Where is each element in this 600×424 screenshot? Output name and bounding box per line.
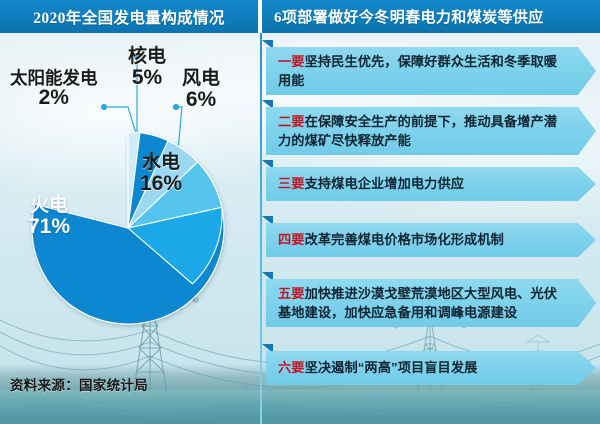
measure-body-1: 坚持民生优先，保障好群众生活和冬季取暖用能	[278, 54, 557, 88]
right-header-bar: 6项部署做好今冬明春电力和煤炭等供应	[262, 0, 600, 33]
measure-key-3: 三要	[278, 176, 305, 191]
measure-key-1: 一要	[278, 54, 305, 69]
measure-text-1: 一要坚持民生优先，保障好群众生活和冬季取暖用能	[266, 52, 596, 90]
right-panel-title: 6项部署做好今冬明春电力和煤炭等供应	[274, 6, 544, 27]
leader-dots	[101, 54, 179, 110]
source-label: 资料来源：国家统计局	[10, 374, 148, 394]
pie-chart-svg	[0, 33, 258, 333]
measure-text-3: 三要支持煤电企业增加电力供应	[266, 176, 490, 192]
measure-banner-4[interactable]: 四要改革完善煤电价格市场化形成机制	[266, 223, 596, 257]
infographic-root: 2020年全国发电量构成情况 6项部署做好今冬明春电力和煤炭等供应	[0, 0, 600, 424]
measure-text-5: 五要加快推进沙漠戈壁荒漠地区大型风电、光伏基地建设，加快应急备用和调峰电源建设	[266, 284, 596, 322]
measure-body-5: 加快推进沙漠戈壁荒漠地区大型风电、光伏基地建设，加快应急备用和调峰电源建设	[278, 286, 557, 320]
measure-body-2: 在保障安全生产的前提下，推动具备增产潜力的煤矿尽快释放产能	[278, 114, 557, 148]
measure-key-4: 四要	[278, 232, 305, 247]
pie-chart: 太阳能发电 2% 核电 5% 风电 6% 水电 16% 火电 71%	[0, 33, 258, 333]
left-header-bar: 2020年全国发电量构成情况	[0, 0, 258, 33]
measure-banner-6[interactable]: 六要坚决遏制“两高”项目盲目发展	[266, 351, 596, 385]
measures-panel: 一要坚持民生优先，保障好群众生活和冬季取暖用能 二要在保障安全生产的前提下，推动…	[262, 33, 600, 424]
pie-slices	[32, 132, 224, 324]
pie-chart-panel: 太阳能发电 2% 核电 5% 风电 6% 水电 16% 火电 71% 资料来源：…	[0, 33, 258, 424]
measure-text-6: 六要坚决遏制“两高”项目盲目发展	[266, 360, 503, 376]
measure-body-6: 坚决遏制“两高”项目盲目发展	[305, 360, 478, 375]
measure-key-5: 五要	[278, 286, 305, 301]
measure-banner-1[interactable]: 一要坚持民生优先，保障好群众生活和冬季取暖用能	[266, 47, 596, 95]
left-panel-title: 2020年全国发电量构成情况	[33, 6, 225, 28]
measure-text-4: 四要改革完善煤电价格市场化形成机制	[266, 232, 530, 248]
measure-key-6: 六要	[278, 360, 305, 375]
measure-banner-2[interactable]: 二要在保障安全生产的前提下，推动具备增产潜力的煤矿尽快释放产能	[266, 107, 596, 155]
measure-body-4: 改革完善煤电价格市场化形成机制	[305, 232, 504, 247]
measure-body-3: 支持煤电企业增加电力供应	[305, 176, 464, 191]
measure-banner-5[interactable]: 五要加快推进沙漠戈壁荒漠地区大型风电、光伏基地建设，加快应急备用和调峰电源建设	[266, 279, 596, 327]
measure-key-2: 二要	[278, 114, 305, 129]
measure-banner-3[interactable]: 三要支持煤电企业增加电力供应	[266, 167, 596, 201]
measure-text-2: 二要在保障安全生产的前提下，推动具备增产潜力的煤矿尽快释放产能	[266, 112, 596, 150]
